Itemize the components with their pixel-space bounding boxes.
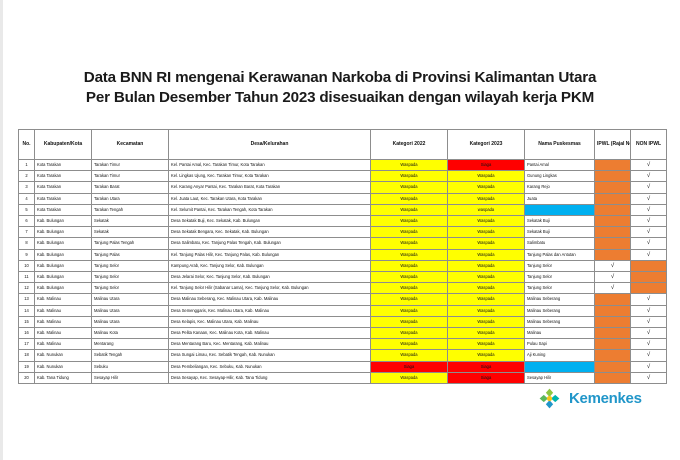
cell-kabupaten-kota: Kab. Bulungan	[35, 216, 92, 227]
cell-desa-kelurahan: Desa Pembeliangan, Kec. Sebuku, Kab. Nun…	[169, 361, 371, 372]
cell-nama-puskesmas: Aji Kuning	[525, 350, 595, 361]
cell-kategori-2023: Waspada	[448, 249, 525, 260]
cell-ipwl	[595, 350, 631, 361]
cell-non-ipwl	[631, 260, 667, 271]
cell-kabupaten-kota: Kab. Bulungan	[35, 249, 92, 260]
cell-kategori-2022: Waspada	[371, 316, 448, 327]
cell-kategori-2022: Waspada	[371, 372, 448, 383]
table-row: 7Kab. BulunganSekatakDesa Sekatak Bengar…	[19, 227, 667, 238]
cell-no: 8	[19, 238, 35, 249]
cell-ipwl	[595, 204, 631, 215]
cell-kategori-2022: Waspada	[371, 294, 448, 305]
page-title: Data BNN RI mengenai Kerawanan Narkoba d…	[30, 68, 650, 108]
title-line-2: Per Bulan Desember Tahun 2023 disesuaika…	[30, 88, 650, 108]
cell-ipwl	[595, 361, 631, 372]
cell-desa-kelurahan: Desa Semenggaris, Kec. Malinau Utara, Ka…	[169, 305, 371, 316]
cell-ipwl	[595, 316, 631, 327]
cell-kabupaten-kota: Kab. Bulungan	[35, 238, 92, 249]
cell-ipwl	[595, 227, 631, 238]
cell-desa-kelurahan: Desa Pelita Kanaan, Kec. Malinau Kota, K…	[169, 328, 371, 339]
cell-no: 11	[19, 272, 35, 283]
cell-kecamatan: Tarakan Timur	[92, 160, 169, 171]
cell-nama-puskesmas: Salimbatu	[525, 238, 595, 249]
cell-nama-puskesmas: Gunung Lingkas	[525, 171, 595, 182]
cell-kategori-2023: Waspada	[448, 328, 525, 339]
table-row: 11Kab. BulunganTanjung SelorDesa Jelarai…	[19, 272, 667, 283]
cell-ipwl	[595, 182, 631, 193]
cell-no: 20	[19, 372, 35, 383]
slide-left-edge	[0, 0, 3, 460]
cell-nama-puskesmas: Pantai Amal	[525, 160, 595, 171]
cell-kabupaten-kota: Kab. Bulungan	[35, 227, 92, 238]
kemenkes-mark-icon	[537, 386, 562, 411]
cell-kecamatan: Malinau Utara	[92, 316, 169, 327]
cell-desa-kelurahan: Desa Sekatak Buji, Kec. Sekatak, Kab. Bu…	[169, 216, 371, 227]
cell-kategori-2023: Waspada	[448, 216, 525, 227]
cell-desa-kelurahan: Kel. Pantai Amal, Kec. Tarakan Timur, Ko…	[169, 160, 371, 171]
cell-kecamatan: Sekatak	[92, 216, 169, 227]
cell-non-ipwl	[631, 272, 667, 283]
cell-kategori-2022: Waspada	[371, 204, 448, 215]
cell-kategori-2022: Waspada	[371, 339, 448, 350]
cell-non-ipwl: √	[631, 171, 667, 182]
cell-ipwl: √	[595, 283, 631, 294]
cell-kabupaten-kota: Kota Tarakan	[35, 160, 92, 171]
cell-no: 16	[19, 328, 35, 339]
cell-nama-puskesmas: Tanjung Palas dan Antutan	[525, 249, 595, 260]
table-row: 14Kab. MalinauMalinau UtaraDesa Semengga…	[19, 305, 667, 316]
cell-kecamatan: Sebatik Tengah	[92, 350, 169, 361]
cell-kategori-2022: Waspada	[371, 350, 448, 361]
data-table-container: No. Kabupaten/Kota Kecamatan Desa/Kelura…	[18, 129, 666, 384]
table-row: 17Kab. MalinauMentarangDesa Mentarang Ba…	[19, 339, 667, 350]
cell-kecamatan: Tanjung Selor	[92, 283, 169, 294]
cell-desa-kelurahan: Kel. Karang Anyar Pantai, Kec. Tarakan B…	[169, 182, 371, 193]
cell-no: 19	[19, 361, 35, 372]
col-header-kategori-2023: Kategori 2023	[448, 130, 525, 160]
cell-non-ipwl: √	[631, 193, 667, 204]
cell-no: 13	[19, 294, 35, 305]
cell-desa-kelurahan: Kel. Juata Laut, Kec. Tarakan Utara, Kot…	[169, 193, 371, 204]
cell-kecamatan: Mentarang	[92, 339, 169, 350]
cell-ipwl	[595, 160, 631, 171]
cell-no: 12	[19, 283, 35, 294]
cell-kategori-2022: Waspada	[371, 160, 448, 171]
table-row: 2Kota TarakanTarakan TimurKel. Lingkas U…	[19, 171, 667, 182]
table-row: 13Kab. MalinauMalinau UtaraDesa Malinau …	[19, 294, 667, 305]
cell-kecamatan: Tanjung Selor	[92, 272, 169, 283]
cell-kategori-2023: Waspada	[448, 182, 525, 193]
col-header-kecamatan: Kecamatan	[92, 130, 169, 160]
table-row: 9Kab. BulunganTanjung PalasKel. Tanjung …	[19, 249, 667, 260]
cell-kabupaten-kota: Kab. Bulungan	[35, 283, 92, 294]
cell-kategori-2022: Waspada	[371, 283, 448, 294]
header-row: No. Kabupaten/Kota Kecamatan Desa/Kelura…	[19, 130, 667, 160]
cell-kategori-2023: Waspada	[448, 238, 525, 249]
cell-nama-puskesmas: Malinau Seberang	[525, 305, 595, 316]
cell-ipwl	[595, 339, 631, 350]
cell-kecamatan: Tanjung Palas Tengah	[92, 238, 169, 249]
cell-kategori-2022: Waspada	[371, 216, 448, 227]
cell-desa-kelurahan: Desa Sekatak Bengara, Kec. Sekatak, Kab.…	[169, 227, 371, 238]
table-row: 1Kota TarakanTarakan TimurKel. Pantai Am…	[19, 160, 667, 171]
cell-kategori-2023: waspada	[448, 204, 525, 215]
cell-desa-kelurahan: Kel. Tanjung Selor Hilir (Sabanar Lama),…	[169, 283, 371, 294]
cell-nama-puskesmas: Sesayap Hilir	[525, 372, 595, 383]
cell-ipwl: √	[595, 260, 631, 271]
cell-kecamatan: Tarakan Barat	[92, 182, 169, 193]
table-row: 12Kab. BulunganTanjung SelorKel. Tanjung…	[19, 283, 667, 294]
kerawanan-narkoba-table: No. Kabupaten/Kota Kecamatan Desa/Kelura…	[18, 129, 667, 384]
col-header-non-ipwl: NON IPWL	[631, 130, 667, 160]
cell-ipwl: √	[595, 272, 631, 283]
cell-desa-kelurahan: Desa Jelarai Selor, Kec. Tanjung Selor, …	[169, 272, 371, 283]
table-row: 3Kota TarakanTarakan BaratKel. Karang An…	[19, 182, 667, 193]
cell-non-ipwl: √	[631, 305, 667, 316]
cell-ipwl	[595, 305, 631, 316]
cell-no: 4	[19, 193, 35, 204]
cell-no: 18	[19, 350, 35, 361]
cell-non-ipwl: √	[631, 350, 667, 361]
cell-nama-puskesmas: Karang Rejo	[525, 182, 595, 193]
cell-desa-kelurahan: Desa Malinau Seberang, Kec. Malinau Utar…	[169, 294, 371, 305]
col-header-ipwl: IPWL (Rajal Non Rumatan)	[595, 130, 631, 160]
cell-desa-kelurahan: Desa Sesayap, Kec. Sesayap-Hilir, Kab. T…	[169, 372, 371, 383]
col-header-no: No.	[19, 130, 35, 160]
cell-kategori-2023: Waspada	[448, 283, 525, 294]
cell-nama-puskesmas	[525, 204, 595, 215]
cell-no: 7	[19, 227, 35, 238]
cell-desa-kelurahan: Desa Mentarang Baru, Kec. Mentarang, Kab…	[169, 339, 371, 350]
cell-kategori-2023: Waspada	[448, 316, 525, 327]
cell-kabupaten-kota: Kab. Malinau	[35, 339, 92, 350]
cell-no: 3	[19, 182, 35, 193]
cell-desa-kelurahan: Kel. Tanjung Palas Hilir, Kec. Tanjung P…	[169, 249, 371, 260]
cell-non-ipwl: √	[631, 316, 667, 327]
cell-kecamatan: Tanjung Selor	[92, 260, 169, 271]
cell-ipwl	[595, 372, 631, 383]
cell-kategori-2023: Waspada	[448, 305, 525, 316]
cell-no: 6	[19, 216, 35, 227]
cell-non-ipwl: √	[631, 249, 667, 260]
cell-kategori-2023: Waspada	[448, 294, 525, 305]
col-header-kategori-2022: Kategori 2022	[371, 130, 448, 160]
cell-kategori-2022: Waspada	[371, 227, 448, 238]
cell-kecamatan: Tanjung Palas	[92, 249, 169, 260]
cell-kategori-2022: Waspada	[371, 249, 448, 260]
cell-nama-puskesmas: Sekatak Buji	[525, 227, 595, 238]
cell-kabupaten-kota: Kab. Malinau	[35, 294, 92, 305]
cell-no: 2	[19, 171, 35, 182]
cell-ipwl	[595, 238, 631, 249]
cell-kabupaten-kota: Kota Tarakan	[35, 182, 92, 193]
cell-ipwl	[595, 216, 631, 227]
cell-kategori-2023: Waspada	[448, 272, 525, 283]
cell-kabupaten-kota: Kab. Malinau	[35, 305, 92, 316]
cell-kabupaten-kota: Kab. Malinau	[35, 328, 92, 339]
cell-no: 14	[19, 305, 35, 316]
cell-kabupaten-kota: Kota Tarakan	[35, 204, 92, 215]
cell-kategori-2022: Waspada	[371, 238, 448, 249]
cell-non-ipwl: √	[631, 216, 667, 227]
cell-kecamatan: Tarakan Timur	[92, 171, 169, 182]
cell-desa-kelurahan: Desa Salimbatu, Kec. Tanjung Palas Tenga…	[169, 238, 371, 249]
cell-non-ipwl: √	[631, 204, 667, 215]
cell-ipwl	[595, 193, 631, 204]
cell-no: 9	[19, 249, 35, 260]
cell-nama-puskesmas	[525, 361, 595, 372]
cell-no: 10	[19, 260, 35, 271]
cell-no: 15	[19, 316, 35, 327]
cell-kecamatan: Malinau Kota	[92, 328, 169, 339]
cell-kabupaten-kota: Kota Tarakan	[35, 171, 92, 182]
cell-nama-puskesmas: Tanjung Selor	[525, 283, 595, 294]
col-header-nama-puskesmas: Nama Puskesmas	[525, 130, 595, 160]
cell-kecamatan: Tarakan Tengah	[92, 204, 169, 215]
cell-kategori-2022: Waspada	[371, 305, 448, 316]
cell-desa-kelurahan: Desa Kelapis, Kec. Malinau Utara, Kab. M…	[169, 316, 371, 327]
cell-non-ipwl: √	[631, 372, 667, 383]
cell-kabupaten-kota: Kab. Nunukan	[35, 361, 92, 372]
cell-desa-kelurahan: Kampung Arab, Kec. Tanjung Selor, Kab. B…	[169, 260, 371, 271]
table-row: 4Kota TarakanTarakan UtaraKel. Juata Lau…	[19, 193, 667, 204]
cell-non-ipwl: √	[631, 328, 667, 339]
cell-non-ipwl: √	[631, 339, 667, 350]
cell-kabupaten-kota: Kab. Bulungan	[35, 260, 92, 271]
kemenkes-logo: Kemenkes	[537, 386, 642, 411]
cell-kategori-2023: Waspada	[448, 339, 525, 350]
table-row: 15Kab. MalinauMalinau UtaraDesa Kelapis,…	[19, 316, 667, 327]
cell-ipwl	[595, 328, 631, 339]
cell-non-ipwl: √	[631, 238, 667, 249]
cell-nama-puskesmas: Juata	[525, 193, 595, 204]
cell-kecamatan: Malinau Utara	[92, 305, 169, 316]
cell-kabupaten-kota: Kab. Malinau	[35, 316, 92, 327]
table-row: 5Kota TarakanTarakan TengahKel. Selumit …	[19, 204, 667, 215]
cell-kategori-2022: Waspada	[371, 182, 448, 193]
cell-non-ipwl: √	[631, 182, 667, 193]
cell-desa-kelurahan: Kel. Selumit Pantai, Kec. Tarakan Tengah…	[169, 204, 371, 215]
cell-nama-puskesmas: Malinau Seberang	[525, 294, 595, 305]
cell-kategori-2023: Waspada	[448, 350, 525, 361]
cell-no: 1	[19, 160, 35, 171]
cell-kecamatan: Sekatak	[92, 227, 169, 238]
cell-nama-puskesmas: Pulau Sapi	[525, 339, 595, 350]
cell-kategori-2023: Waspada	[448, 171, 525, 182]
cell-kategori-2023: Waspada	[448, 260, 525, 271]
cell-kategori-2022: Siaga	[371, 361, 448, 372]
table-row: 16Kab. MalinauMalinau KotaDesa Pelita Ka…	[19, 328, 667, 339]
cell-kabupaten-kota: Kab. Tana Tidung	[35, 372, 92, 383]
cell-ipwl	[595, 249, 631, 260]
slide-canvas: Data BNN RI mengenai Kerawanan Narkoba d…	[0, 0, 680, 460]
col-header-kabupaten-kota: Kabupaten/Kota	[35, 130, 92, 160]
table-body: 1Kota TarakanTarakan TimurKel. Pantai Am…	[19, 160, 667, 384]
table-row: 19Kab. NunukanSebukuDesa Pembeliangan, K…	[19, 361, 667, 372]
cell-non-ipwl: √	[631, 294, 667, 305]
table-row: 6Kab. BulunganSekatakDesa Sekatak Buji, …	[19, 216, 667, 227]
cell-kategori-2022: Waspada	[371, 272, 448, 283]
cell-nama-puskesmas: Tanjung Selor	[525, 272, 595, 283]
cell-desa-kelurahan: Kel. Lingkas Ujung, Kec. Tarakan Timur, …	[169, 171, 371, 182]
title-line-1: Data BNN RI mengenai Kerawanan Narkoba d…	[30, 68, 650, 88]
col-header-desa-kelurahan: Desa/Kelurahan	[169, 130, 371, 160]
cell-ipwl	[595, 294, 631, 305]
cell-kecamatan: Sesayap Hilir	[92, 372, 169, 383]
table-row: 8Kab. BulunganTanjung Palas TengahDesa S…	[19, 238, 667, 249]
cell-non-ipwl: √	[631, 361, 667, 372]
cell-non-ipwl: √	[631, 227, 667, 238]
cell-kategori-2022: Waspada	[371, 171, 448, 182]
cell-kabupaten-kota: Kota Tarakan	[35, 193, 92, 204]
cell-kecamatan: Malinau Utara	[92, 294, 169, 305]
cell-kategori-2023: Siaga	[448, 372, 525, 383]
kemenkes-wordmark: Kemenkes	[569, 390, 642, 407]
cell-non-ipwl	[631, 283, 667, 294]
cell-kategori-2023: Waspada	[448, 193, 525, 204]
cell-nama-puskesmas: Sekatak Buji	[525, 216, 595, 227]
cell-no: 5	[19, 204, 35, 215]
cell-kecamatan: Tarakan Utara	[92, 193, 169, 204]
cell-kategori-2023: Siaga	[448, 361, 525, 372]
cell-nama-puskesmas: Tanjung Selor	[525, 260, 595, 271]
cell-kategori-2023: Siaga	[448, 160, 525, 171]
cell-kategori-2022: Waspada	[371, 260, 448, 271]
cell-desa-kelurahan: Desa Sungai Limau, Kec. Sebatik Tengah, …	[169, 350, 371, 361]
cell-kategori-2022: Waspada	[371, 193, 448, 204]
cell-ipwl	[595, 171, 631, 182]
cell-nama-puskesmas: Malinau	[525, 328, 595, 339]
table-row: 20Kab. Tana TidungSesayap HilirDesa Sesa…	[19, 372, 667, 383]
cell-nama-puskesmas: Malinau Seberang	[525, 316, 595, 327]
cell-no: 17	[19, 339, 35, 350]
cell-kategori-2022: Waspada	[371, 328, 448, 339]
cell-non-ipwl: √	[631, 160, 667, 171]
cell-kabupaten-kota: Kab. Bulungan	[35, 272, 92, 283]
cell-kecamatan: Sebuku	[92, 361, 169, 372]
table-row: 10Kab. BulunganTanjung SelorKampung Arab…	[19, 260, 667, 271]
cell-kabupaten-kota: Kab. Nunukan	[35, 350, 92, 361]
table-row: 18Kab. NunukanSebatik TengahDesa Sungai …	[19, 350, 667, 361]
table-header: No. Kabupaten/Kota Kecamatan Desa/Kelura…	[19, 130, 667, 160]
cell-kategori-2023: Waspada	[448, 227, 525, 238]
